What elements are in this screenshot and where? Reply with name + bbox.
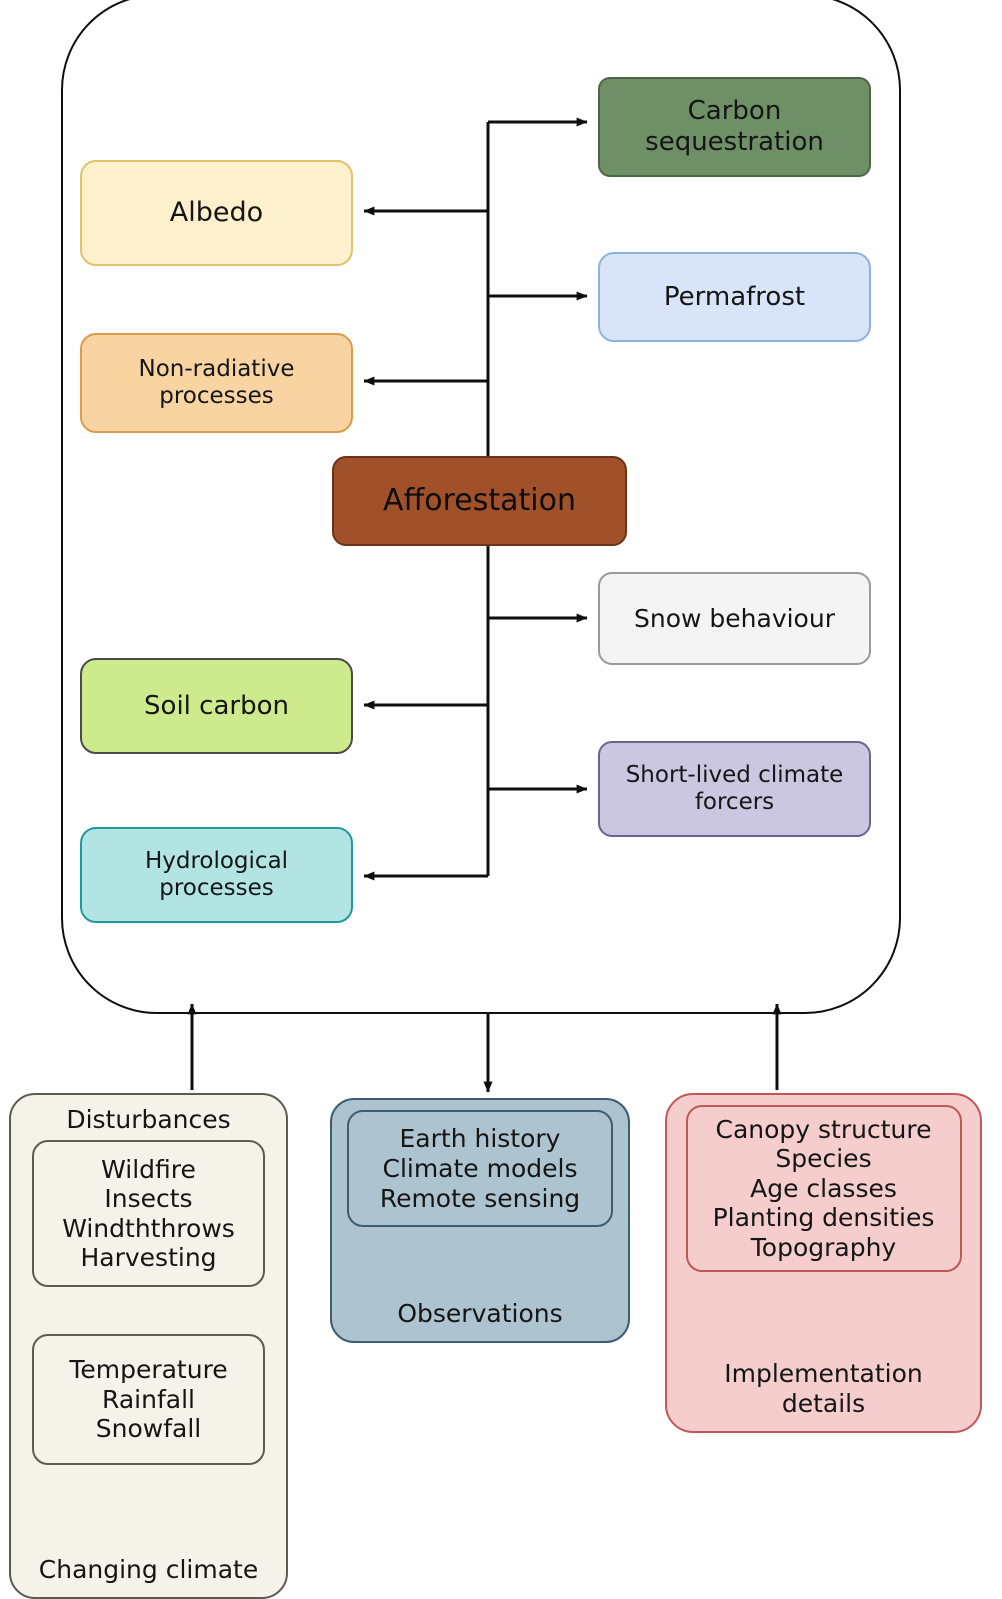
group-disturbances[interactable]: Disturbances Wildfire Insects Windththro… bbox=[9, 1093, 288, 1599]
node-carbon-sequestration[interactable]: Carbon sequestration bbox=[598, 77, 871, 177]
node-snow-behaviour[interactable]: Snow behaviour bbox=[598, 572, 871, 665]
node-non-radiative-processes[interactable]: Non-radiative processes bbox=[80, 333, 353, 433]
node-permafrost[interactable]: Permafrost bbox=[598, 252, 871, 342]
node-short-lived-climate-forcers-label: Short-lived climate forcers bbox=[626, 762, 844, 816]
node-permafrost-label: Permafrost bbox=[664, 282, 805, 313]
node-snow-behaviour-label: Snow behaviour bbox=[634, 604, 835, 634]
node-non-radiative-processes-label: Non-radiative processes bbox=[139, 356, 295, 410]
list-disturbance-types-items: Wildfire Insects Windththrows Harvesting bbox=[62, 1155, 235, 1273]
list-climate-variables: Temperature Rainfall Snowfall bbox=[32, 1334, 265, 1465]
node-hydrological-processes[interactable]: Hydrological processes bbox=[80, 827, 353, 923]
group-observations-title: Observations bbox=[332, 1299, 628, 1329]
list-observation-sources-items: Earth history Climate models Remote sens… bbox=[380, 1124, 580, 1214]
group-disturbances-subtitle: Changing climate bbox=[11, 1555, 286, 1585]
list-implementation-factors: Canopy structure Species Age classes Pla… bbox=[686, 1105, 962, 1272]
list-climate-variables-items: Temperature Rainfall Snowfall bbox=[69, 1355, 227, 1444]
diagram-canvas: Albedo Non-radiative processes Soil carb… bbox=[0, 0, 1002, 1599]
group-implementation-details-title: Implementation details bbox=[667, 1359, 980, 1419]
node-short-lived-climate-forcers[interactable]: Short-lived climate forcers bbox=[598, 741, 871, 837]
node-carbon-sequestration-label: Carbon sequestration bbox=[645, 96, 824, 157]
node-albedo-label: Albedo bbox=[170, 197, 263, 229]
node-soil-carbon-label: Soil carbon bbox=[144, 691, 289, 722]
group-disturbances-title: Disturbances bbox=[11, 1105, 286, 1134]
node-hydrological-processes-label: Hydrological processes bbox=[145, 848, 288, 902]
list-observation-sources: Earth history Climate models Remote sens… bbox=[347, 1110, 613, 1227]
node-afforestation[interactable]: Afforestation bbox=[332, 456, 627, 546]
node-albedo[interactable]: Albedo bbox=[80, 160, 353, 266]
group-implementation-details[interactable]: Canopy structure Species Age classes Pla… bbox=[665, 1093, 982, 1433]
node-soil-carbon[interactable]: Soil carbon bbox=[80, 658, 353, 754]
list-disturbance-types: Wildfire Insects Windththrows Harvesting bbox=[32, 1140, 265, 1287]
node-afforestation-label: Afforestation bbox=[383, 483, 576, 518]
list-implementation-factors-items: Canopy structure Species Age classes Pla… bbox=[713, 1115, 935, 1263]
group-observations[interactable]: Earth history Climate models Remote sens… bbox=[330, 1098, 630, 1343]
